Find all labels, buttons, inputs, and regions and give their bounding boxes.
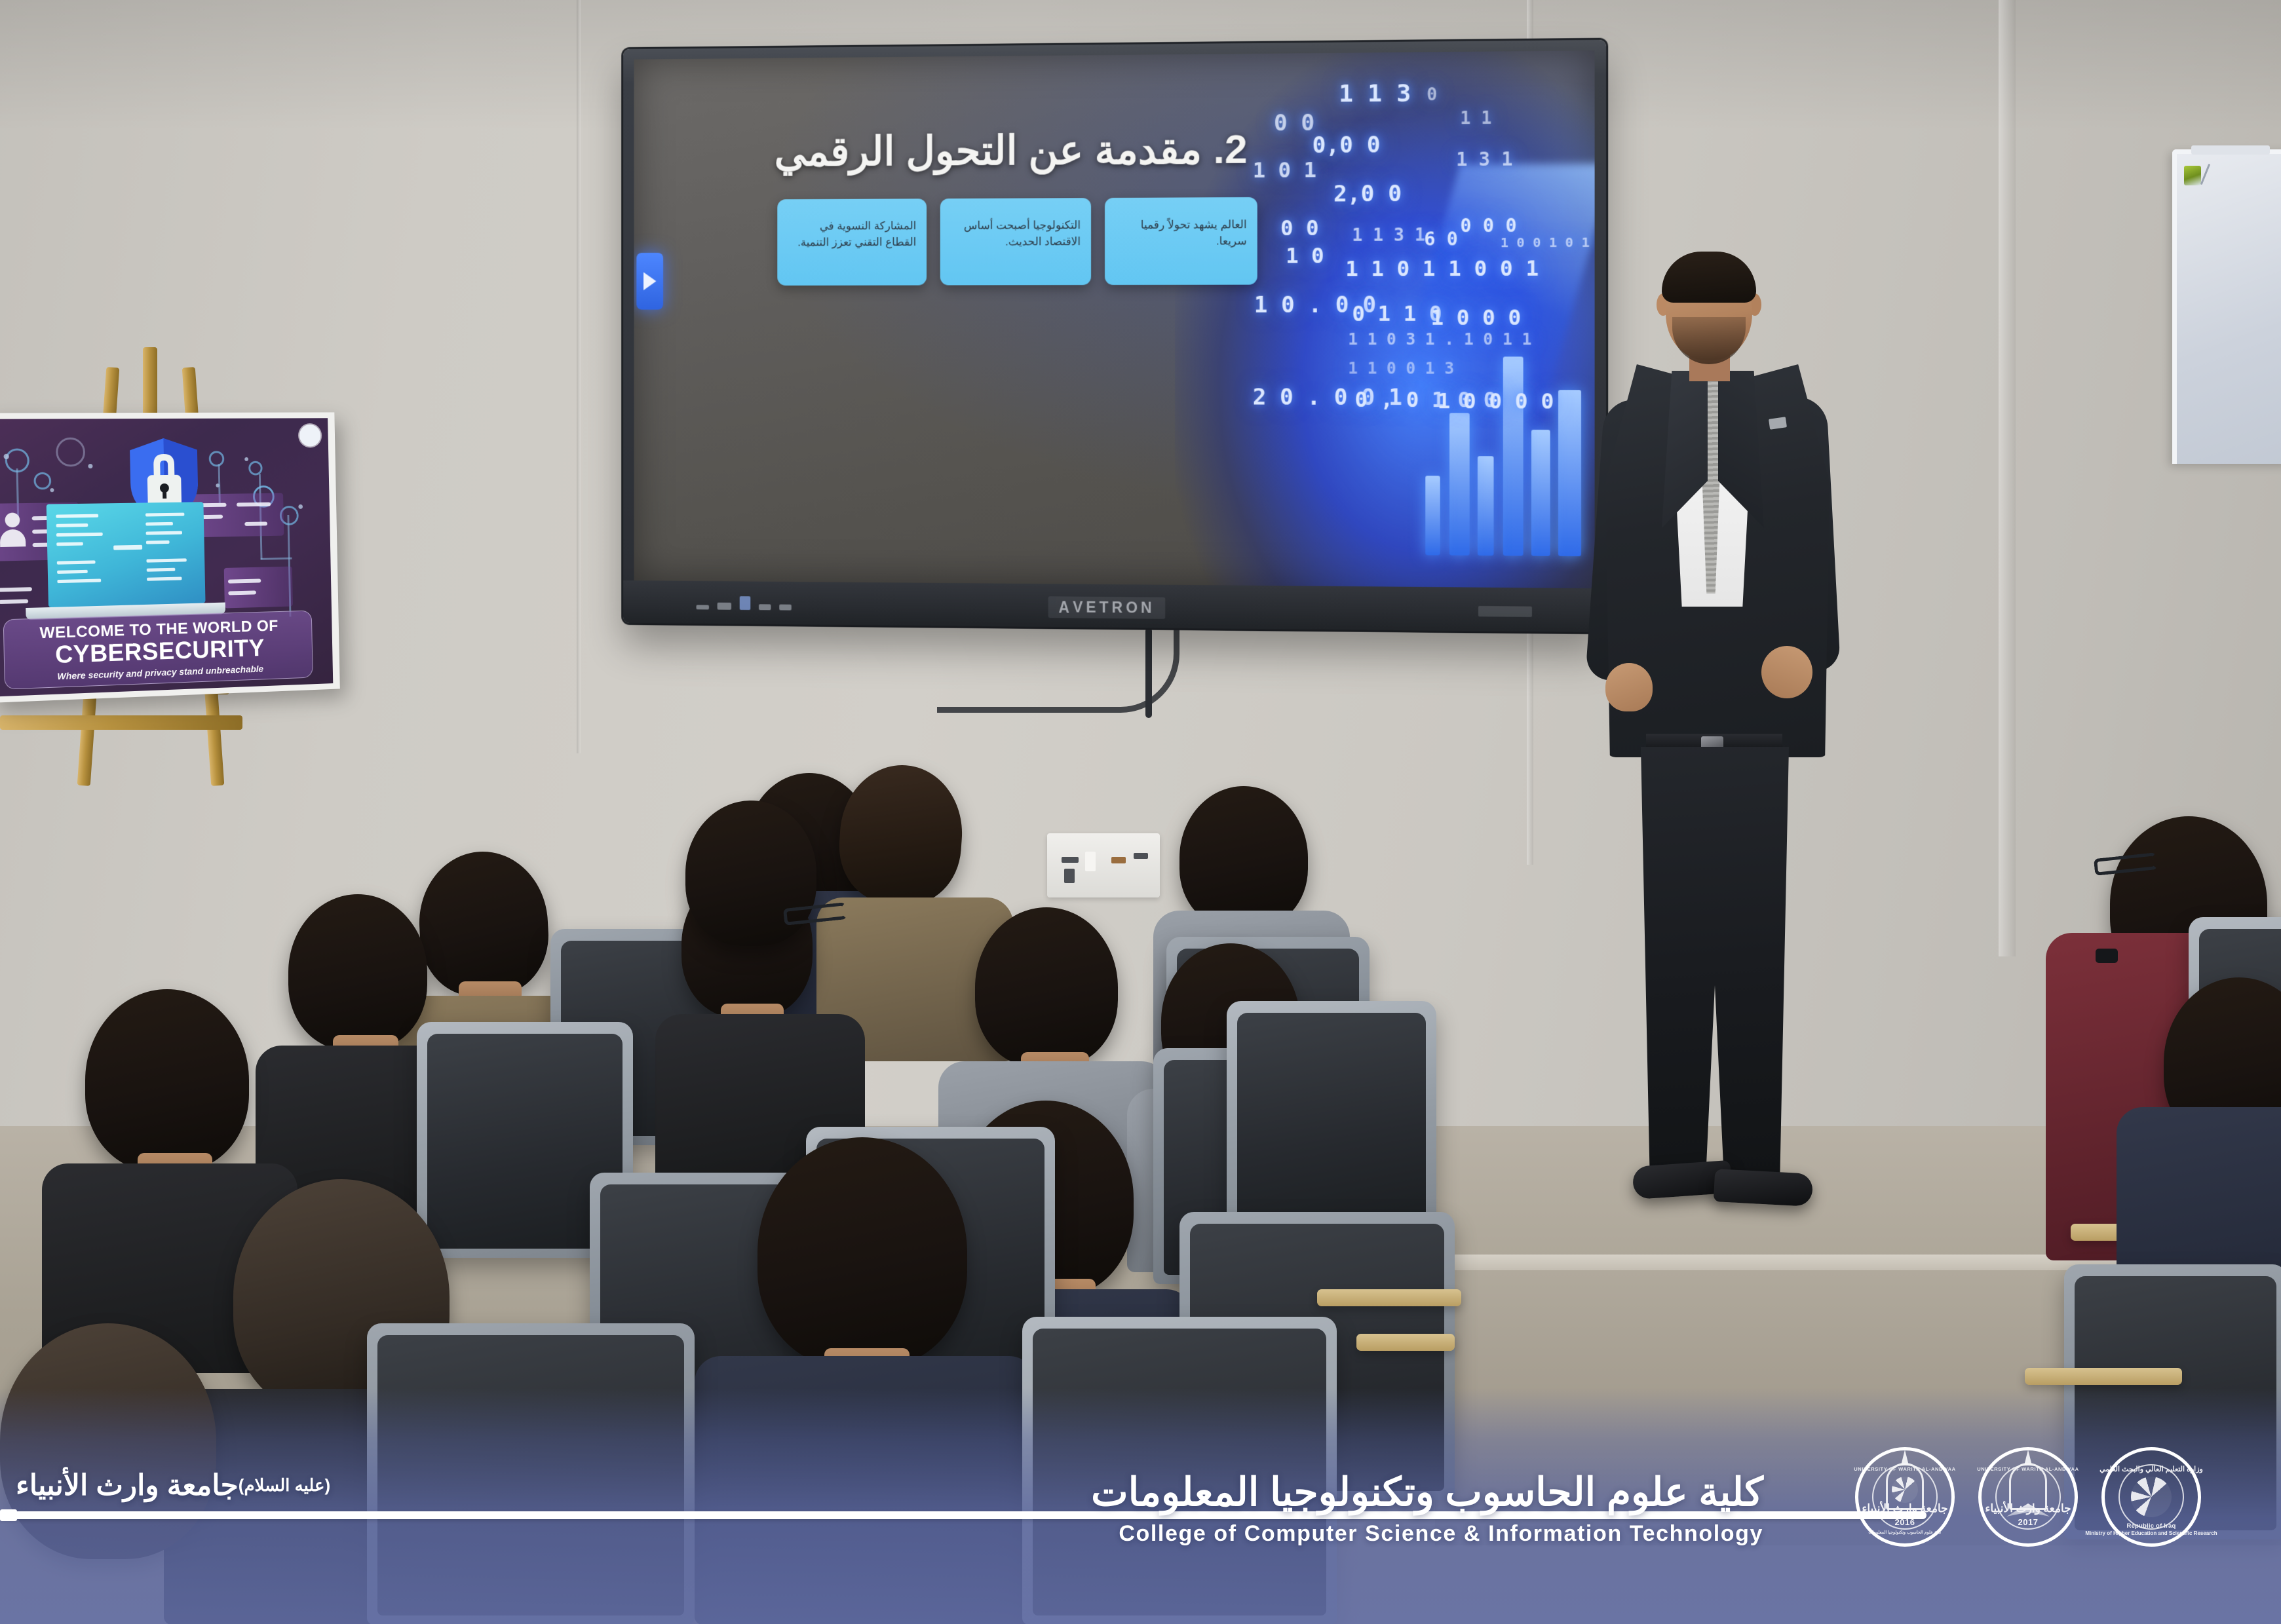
sunburst-icon [2131, 1477, 2172, 1517]
university-name-suffix: (عليه السلام) [239, 1475, 330, 1495]
scene-root: 1 1 3 0 0 0,0 0 1 0 1 2,0 0 0 1 1 1 3 1 … [0, 0, 2281, 1624]
university-name-main: جامعة وارث الأنبياء [16, 1469, 239, 1501]
audience-head [1179, 786, 1308, 929]
logo-year: 2017 [2018, 1517, 2039, 1527]
poster-panel-right-2 [224, 567, 293, 609]
seat-armrest [1356, 1334, 1455, 1351]
ir-receiver [1478, 606, 1532, 617]
audience-head [757, 1137, 967, 1368]
poster-data-bar [228, 578, 261, 583]
ministry-logo: وزارة التعليم العالي والبحث العلمي Repub… [2101, 1447, 2201, 1547]
user-icon [0, 512, 27, 548]
university-name-arabic: (عليه السلام)جامعة وارث الأنبياء [16, 1469, 330, 1502]
poster-data-bar [244, 521, 267, 526]
audience-head [85, 989, 249, 1171]
display-port-icons [697, 596, 792, 611]
college-name-english: College of Computer Science & Informatio… [1119, 1521, 1763, 1547]
presenter-beard [1672, 317, 1746, 364]
laptop-icon [47, 502, 206, 607]
usb-port-icon [697, 605, 709, 609]
poster-university-badge [299, 425, 321, 447]
audience-head [975, 907, 1118, 1067]
lan-port-icon [779, 605, 792, 611]
logo-arabic-text: جامعة وارث الأنبياء [1985, 1502, 2071, 1515]
whiteboard-mark [2200, 164, 2211, 185]
logo-arabic-text: وزارة التعليم العالي والبحث العلمي [2099, 1465, 2203, 1473]
logo-arabic-text: جامعة وارث الأنبياء [1862, 1502, 1947, 1515]
display-screen[interactable]: 1 1 3 0 0 0,0 0 1 0 1 2,0 0 0 1 1 1 3 1 … [634, 50, 1595, 588]
slide-card-group: العالم يشهد تحولاً رقميا سريعا. التكنولو… [777, 197, 1257, 286]
poster-data-bar [237, 502, 271, 507]
presenter-hair [1662, 252, 1756, 303]
play-arrow-icon [643, 272, 656, 290]
logo-crest: وزارة التعليم العالي والبحث العلمي Repub… [2115, 1460, 2188, 1534]
cybersecurity-poster: WELCOME TO THE WORLD OF CYBERSECURITY Wh… [0, 412, 340, 702]
logo-caption-arabic: كلية علوم الحاسوب وتكنولوجيا المعلومات [1868, 1530, 1941, 1535]
logo-caption-english: Republic of Iraq [2127, 1522, 2176, 1530]
brand-name: VETRON [1073, 599, 1155, 616]
seat-armrest [1317, 1289, 1461, 1306]
slide-next-button[interactable] [636, 253, 663, 310]
footer-banner: (عليه السلام)جامعة وارث الأنبياء كلية عل… [0, 1427, 2281, 1624]
display-cable-drop [1145, 628, 1152, 718]
whiteboard [2172, 149, 2281, 464]
slide-card: المشاركة النسوية في القطاع التقني تعزز ا… [777, 198, 927, 286]
logo-crest: UNIVERSITY OF WARITH AL-ANBIYAA جامعة وا… [1991, 1460, 2065, 1534]
footer-divider-cap [0, 1509, 17, 1521]
audio-port-icon [759, 604, 771, 610]
logo-arc-text: UNIVERSITY OF WARITH AL-ANBIYAA [1977, 1466, 2079, 1472]
poster-data-bar [228, 590, 256, 595]
presenter-trousers [1641, 747, 1789, 1173]
wristwatch [2096, 949, 2118, 963]
presenter-hand-right [1761, 646, 1812, 698]
audience-head [288, 894, 427, 1050]
poster-caption: WELCOME TO THE WORLD OF CYBERSECURITY Wh… [3, 611, 313, 690]
hdmi-port-icon [718, 603, 731, 610]
slide-title: 2. مقدمة عن التحول الرقمي [775, 125, 1248, 176]
university-logo-cs: UNIVERSITY OF WARITH AL-ANBIYAA جامعة وا… [1855, 1447, 1955, 1547]
logo-arc-text: UNIVERSITY OF WARITH AL-ANBIYAA [1854, 1466, 1955, 1472]
presenter-shoe-right [1714, 1169, 1813, 1207]
auditorium-seat[interactable] [1227, 1001, 1436, 1230]
wall-power-outlet[interactable] [1047, 833, 1160, 897]
whiteboard-clip [2191, 145, 2270, 155]
power-indicator-icon [740, 596, 751, 610]
display-cable [937, 621, 1179, 713]
presentation-slide: 1 1 3 0 0 0,0 0 1 0 1 2,0 0 0 1 1 1 3 1 … [634, 50, 1595, 588]
display-brand-label: AVETRON [1048, 596, 1166, 619]
college-name-arabic: كلية علوم الحاسوب وتكنولوجيا المعلومات [1091, 1469, 1763, 1515]
poster-artwork: WELCOME TO THE WORLD OF CYBERSECURITY Wh… [0, 418, 333, 696]
interactive-display[interactable]: 1 1 3 0 0 0,0 0 1 0 1 2,0 0 0 1 1 1 3 1 … [623, 40, 1606, 633]
slide-card: العالم يشهد تحولاً رقميا سريعا. [1105, 197, 1257, 285]
wall-seam-left [577, 0, 581, 753]
university-logo-main: UNIVERSITY OF WARITH AL-ANBIYAA جامعة وا… [1978, 1447, 2078, 1547]
logo-crest: UNIVERSITY OF WARITH AL-ANBIYAA جامعة وا… [1868, 1460, 1942, 1534]
easel-tray [0, 715, 242, 730]
seat-armrest [2025, 1368, 2182, 1385]
slide-card: التكنولوجيا أصبحت أساس الاقتصاد الحديث. [940, 198, 1091, 285]
poster-data-bar [0, 599, 28, 604]
presenter [1573, 249, 1913, 1245]
logo-year: 2016 [1895, 1517, 1915, 1527]
whiteboard-sticker [2184, 166, 2201, 185]
wall-corner [1999, 0, 2016, 956]
brand-mark-icon: A [1058, 597, 1073, 617]
logo-subcaption-english: Ministry of Higher Education and Scienti… [2085, 1530, 2217, 1536]
presenter-hand-left [1605, 663, 1653, 711]
